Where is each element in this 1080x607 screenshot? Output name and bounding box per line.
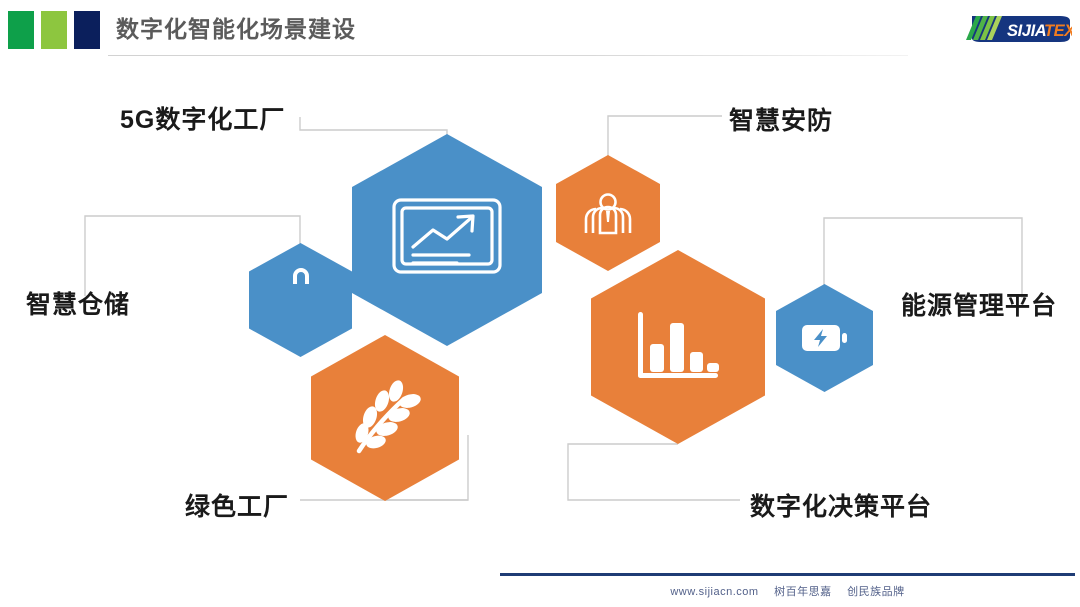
hex-node-factory5g[interactable] (352, 134, 542, 346)
leaf-branch-icon (311, 335, 459, 501)
header-divider (108, 55, 908, 56)
connector-decision (568, 444, 740, 500)
footer-website: www.sijiacn.com (670, 586, 758, 598)
page-header: 数字化智能化场景建设 (0, 0, 1080, 62)
svg-text:SIJIA: SIJIA (1007, 22, 1046, 40)
node-label-energy: 能源管理平台 (901, 286, 1057, 322)
connector-factory5g (300, 117, 447, 136)
hex-node-decision[interactable] (591, 250, 765, 444)
node-label-decision: 数字化决策平台 (750, 487, 932, 523)
svg-text:TEX: TEX (1044, 22, 1072, 40)
footer-slogan-a: 树百年思嘉 (774, 586, 832, 598)
people-group-icon (556, 155, 660, 271)
bar-chart-icon (591, 250, 765, 444)
node-label-factory5g: 5G数字化工厂 (120, 100, 285, 136)
footer-divider (500, 573, 1075, 576)
header-accent-square-green (8, 11, 34, 49)
connector-security (608, 116, 722, 157)
node-label-warehouse: 智慧仓储 (26, 285, 130, 321)
hex-node-energy[interactable] (776, 284, 873, 392)
battery-bolt-icon (776, 284, 873, 392)
node-label-security: 智慧安防 (729, 101, 833, 137)
footer-slogan-b: 创民族品牌 (847, 586, 905, 598)
growth-chart-screen-icon (352, 134, 542, 346)
warehouse-arch-icon (249, 243, 352, 357)
footer-text: www.sijiacn.com 树百年思嘉 创民族品牌 (500, 583, 1075, 599)
page-title: 数字化智能化场景建设 (116, 10, 356, 48)
sijiatex-logo: SIJIA TEX (960, 12, 1072, 46)
hex-node-green-factory[interactable] (311, 335, 459, 501)
node-label-green: 绿色工厂 (185, 487, 289, 523)
header-accent-square-light-green (41, 11, 67, 49)
hex-node-security[interactable] (556, 155, 660, 271)
header-accent-square-navy (74, 11, 100, 49)
hex-node-warehouse[interactable] (249, 243, 352, 357)
